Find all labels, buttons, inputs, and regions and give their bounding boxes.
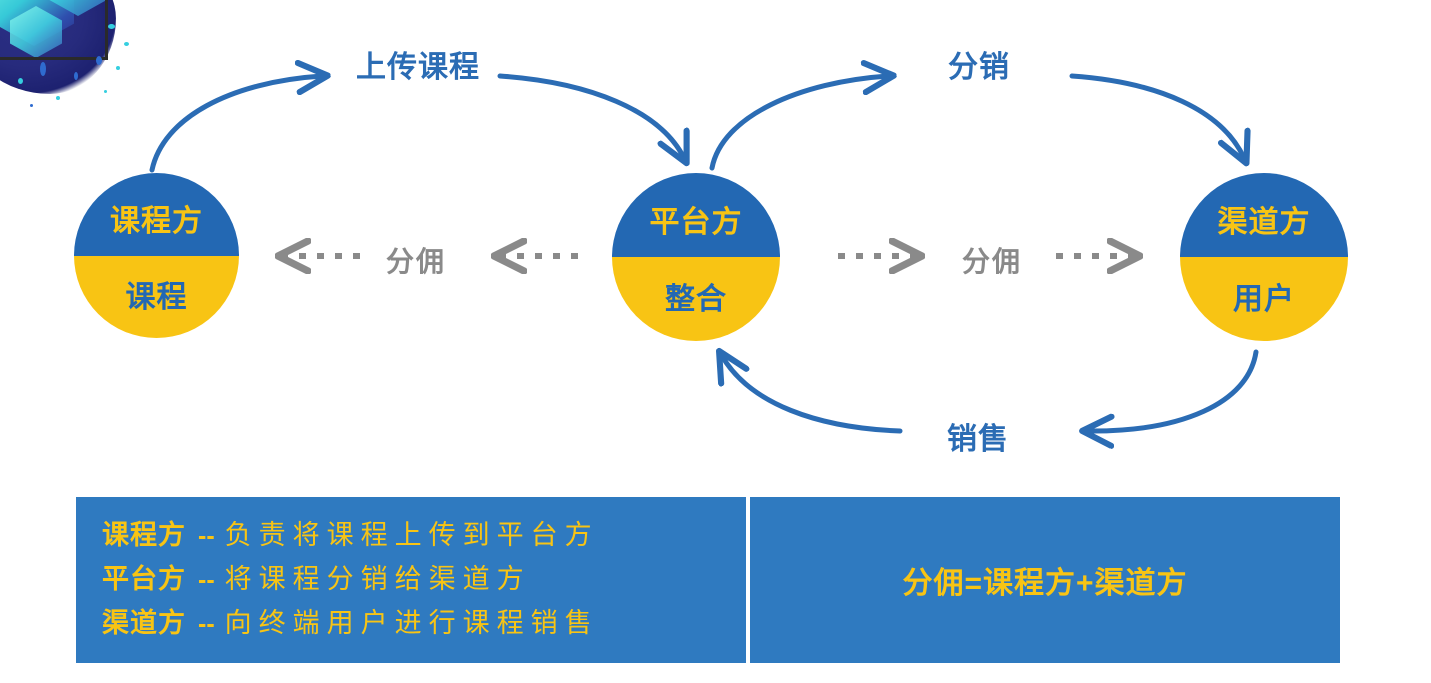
label-upload: 上传课程 (356, 42, 480, 86)
node-top-half: 渠道方 (1180, 173, 1348, 257)
arrow-sell-segment-1 (1088, 352, 1256, 431)
role-description: 负责将课程上传到平台方 (225, 513, 599, 552)
arrow-upload-segment-1 (152, 76, 322, 170)
slide-canvas: 课程方 课程 平台方 整合 渠道方 用户 上传课程 分销 销售 分佣 分佣 课程… (0, 0, 1431, 683)
list-item: 渠道方 -- 向终端用户进行课程销售 (102, 601, 734, 645)
arrow-sell-segment-2 (722, 356, 900, 431)
commission-formula-text: 分佣=课程方+渠道方 (902, 558, 1187, 602)
role-separator: -- (198, 522, 215, 551)
node-course-provider[interactable]: 课程方 课程 (74, 173, 239, 338)
node-top-label: 平台方 (650, 197, 743, 241)
node-bottom-label: 课程 (126, 272, 188, 316)
arrow-distribute-segment-2 (1072, 76, 1244, 158)
role-name: 渠道方 (102, 601, 186, 640)
node-bottom-half: 课程 (74, 256, 239, 339)
node-top-half: 平台方 (612, 173, 780, 257)
commission-formula-panel: 分佣=课程方+渠道方 (750, 497, 1340, 663)
role-separator: -- (198, 566, 215, 595)
node-bottom-label: 整合 (665, 274, 727, 318)
node-bottom-label: 用户 (1233, 274, 1295, 318)
node-top-half: 课程方 (74, 173, 239, 256)
roles-description-panel: 课程方 -- 负责将课程上传到平台方 平台方 -- 将课程分销给渠道方 渠道方 … (76, 497, 746, 663)
list-item: 课程方 -- 负责将课程上传到平台方 (102, 513, 734, 557)
label-distribute: 分销 (948, 42, 1010, 86)
node-bottom-half: 用户 (1180, 257, 1348, 341)
roles-list: 课程方 -- 负责将课程上传到平台方 平台方 -- 将课程分销给渠道方 渠道方 … (102, 513, 734, 645)
role-separator: -- (198, 610, 215, 639)
node-top-label: 课程方 (110, 196, 203, 240)
role-name: 课程方 (102, 513, 186, 552)
arrow-distribute-segment-1 (712, 76, 888, 168)
arrow-upload-segment-2 (500, 76, 684, 158)
node-channel[interactable]: 渠道方 用户 (1180, 173, 1348, 341)
role-description: 将课程分销给渠道方 (225, 557, 531, 596)
label-commission-right: 分佣 (962, 240, 1022, 280)
label-sell: 销售 (947, 414, 1009, 458)
label-commission-left: 分佣 (386, 240, 446, 280)
node-top-label: 渠道方 (1218, 197, 1311, 241)
node-platform[interactable]: 平台方 整合 (612, 173, 780, 341)
node-bottom-half: 整合 (612, 257, 780, 341)
role-name: 平台方 (102, 557, 186, 596)
list-item: 平台方 -- 将课程分销给渠道方 (102, 557, 734, 601)
role-description: 向终端用户进行课程销售 (225, 601, 599, 640)
